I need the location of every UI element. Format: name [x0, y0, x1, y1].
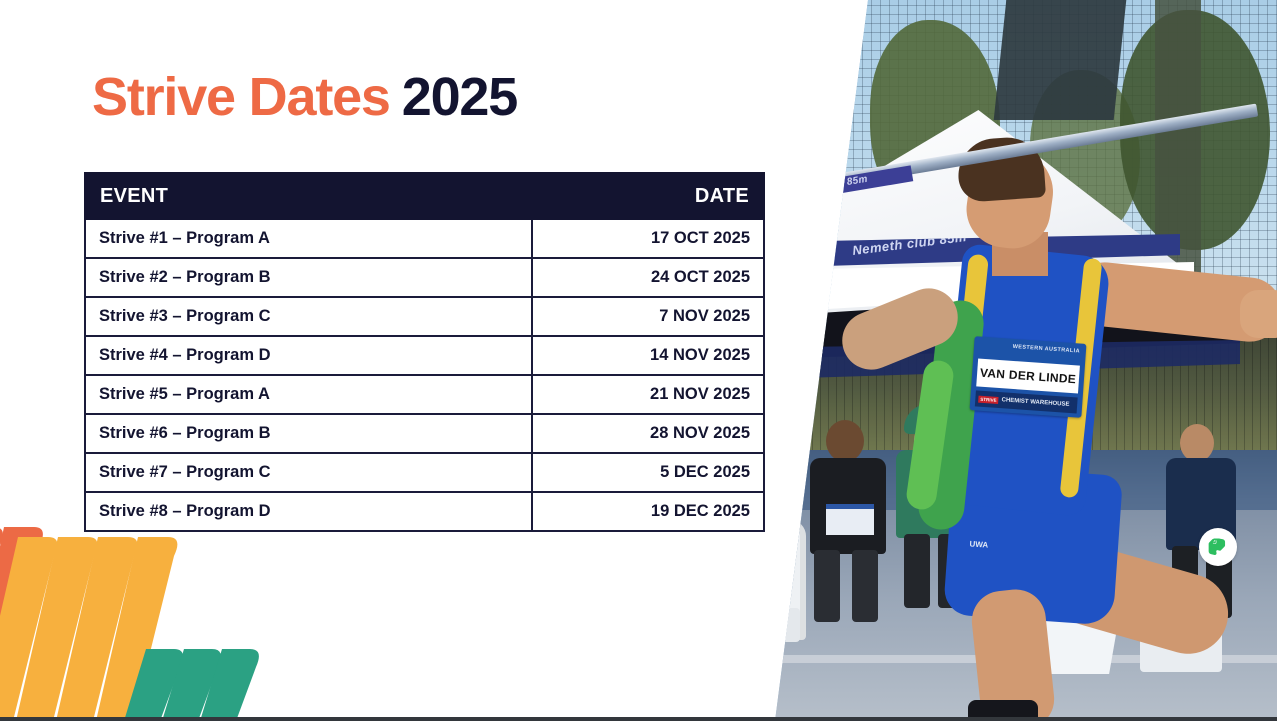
- stripes-svg: [0, 521, 300, 721]
- spectator-leg-left: [814, 550, 840, 622]
- stripe-amber-4: [96, 537, 177, 721]
- page-title-highlight: Strive Dates: [92, 67, 390, 127]
- bib-sponsor-badge: STRIVE: [978, 395, 999, 403]
- stripe-group-teal: [124, 649, 259, 721]
- stripe-teal-1: [124, 649, 183, 721]
- bib-sponsor-bar: STRIVE CHEMIST WAREHOUSE: [975, 390, 1078, 413]
- spectator-head: [1180, 424, 1214, 462]
- athlete-bib: WESTERN AUSTRALIA VAN DER LINDE STRIVE C…: [970, 336, 1087, 418]
- cell-event: Strive #7 – Program C: [85, 453, 532, 492]
- javelin-photo: Nemeth club 85m: [700, 0, 1277, 721]
- stripe-amber-1: [0, 537, 57, 721]
- bib-athlete-name: VAN DER LINDE: [976, 358, 1080, 393]
- table-header-row: EVENT DATE: [85, 173, 764, 219]
- evernote-icon: [1207, 536, 1229, 558]
- stripe-amber-3: [56, 537, 137, 721]
- stripe-group-orange: [0, 527, 43, 721]
- spectator-leg-left: [904, 534, 930, 608]
- cell-date: 21 NOV 2025: [532, 375, 764, 414]
- cell-event: Strive #8 – Program D: [85, 492, 532, 531]
- stripe-group-amber: [0, 537, 177, 721]
- table-row: Strive #8 – Program D19 DEC 2025: [85, 492, 764, 531]
- table-row: Strive #1 – Program A17 OCT 2025: [85, 219, 764, 258]
- cell-event: Strive #3 – Program C: [85, 297, 532, 336]
- column-header-event: EVENT: [85, 173, 532, 219]
- cell-event: Strive #5 – Program A: [85, 375, 532, 414]
- decorative-stripes: [0, 521, 300, 721]
- strive-dates-table: EVENT DATE Strive #1 – Program A17 OCT 2…: [84, 172, 765, 532]
- cell-event: Strive #4 – Program D: [85, 336, 532, 375]
- cell-date: 5 DEC 2025: [532, 453, 764, 492]
- cell-event: Strive #2 – Program B: [85, 258, 532, 297]
- table-row: Strive #7 – Program C5 DEC 2025: [85, 453, 764, 492]
- cell-event: Strive #1 – Program A: [85, 219, 532, 258]
- bib-sponsor-name: CHEMIST WAREHOUSE: [1001, 397, 1069, 408]
- stripe-teal-3: [200, 649, 259, 721]
- singlet-uwa-logo: UWA: [955, 539, 1001, 576]
- column-header-date: DATE: [532, 173, 764, 219]
- table-row: Strive #3 – Program C7 NOV 2025: [85, 297, 764, 336]
- bottom-bar: [0, 717, 1277, 721]
- cell-date: 14 NOV 2025: [532, 336, 764, 375]
- stripe-orange-2: [0, 527, 43, 721]
- cell-date: 17 OCT 2025: [532, 219, 764, 258]
- table-row: Strive #2 – Program B24 OCT 2025: [85, 258, 764, 297]
- table-row: Strive #6 – Program B28 NOV 2025: [85, 414, 764, 453]
- spectator-leg-right: [852, 550, 878, 622]
- cell-date: 19 DEC 2025: [532, 492, 764, 531]
- slide-canvas: Strive Dates2025 EVENT DATE Strive #1 – …: [0, 0, 1277, 721]
- stripe-teal-2: [162, 649, 221, 721]
- net-pillar-top: [994, 0, 1127, 120]
- table-row: Strive #5 – Program A21 NOV 2025: [85, 375, 764, 414]
- table-header: EVENT DATE: [85, 173, 764, 219]
- spectator-bib: [826, 504, 874, 535]
- table-row: Strive #4 – Program D14 NOV 2025: [85, 336, 764, 375]
- table-body: Strive #1 – Program A17 OCT 2025Strive #…: [85, 219, 764, 531]
- cell-date: 24 OCT 2025: [532, 258, 764, 297]
- athlete-hand: [1240, 290, 1277, 338]
- evernote-clipper-badge[interactable]: [1199, 528, 1237, 566]
- spectator-head: [826, 420, 864, 462]
- cell-date: 7 NOV 2025: [532, 297, 764, 336]
- page-title-year: 2025: [390, 67, 517, 127]
- stripe-amber-2: [16, 537, 97, 721]
- cell-event: Strive #6 – Program B: [85, 414, 532, 453]
- plastic-chair: [722, 520, 806, 640]
- stripe-orange-1: [0, 527, 3, 721]
- cell-date: 28 NOV 2025: [532, 414, 764, 453]
- page-title: Strive Dates2025: [92, 69, 517, 126]
- photo-content: Nemeth club 85m: [700, 0, 1277, 721]
